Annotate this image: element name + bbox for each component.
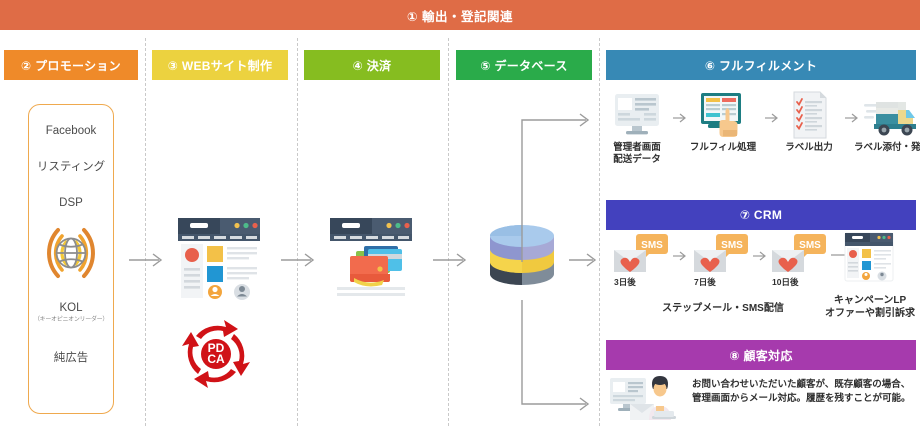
caption-text: 管理者画面 配送データ — [613, 142, 661, 165]
stage-label-promotion: ② プロモーション — [21, 57, 121, 74]
sms-badge-text: SMS — [721, 240, 743, 251]
arrow-database-to-fulfillment — [518, 112, 598, 262]
support-content: お問い合わせいただいた顧客が、既存顧客の場合、 管理画面からメール対応。履歴を残… — [606, 374, 916, 424]
promotion-channel-pure-ad: 純広告 — [29, 352, 113, 366]
crm-steps: SMS 3日後 SMS 7日後 — [606, 232, 916, 332]
stage-header-database: ⑤ データベース — [456, 50, 592, 80]
fulfillment-caption-4: ラベル添付・発送 — [846, 142, 920, 154]
fulfillment-arrow-2 — [764, 112, 782, 124]
promotion-channel-label: 純広告 — [54, 352, 89, 364]
banner-export-registration: ① 輸出・登記関連 — [0, 0, 920, 30]
arrow-database-to-support — [518, 300, 598, 412]
operator-desk-icon — [608, 374, 684, 424]
crm-arrow-2 — [752, 250, 770, 262]
fulfillment-caption-3: ラベル出力 — [778, 142, 840, 154]
stage-label-crm: ⑦ CRM — [740, 208, 782, 222]
promotion-channel-label: DSP — [59, 197, 83, 209]
stage-header-website: ③ WEBサイト制作 — [152, 50, 288, 80]
promotion-channel-label: Facebook — [46, 125, 97, 137]
browser-mockup-icon — [176, 216, 262, 304]
promotion-channel-facebook: Facebook — [29, 125, 113, 139]
promotion-channel-kol: KOL （キーオピニオンリーダー） — [29, 302, 113, 324]
caption-text: フルフィル処理 — [690, 142, 756, 153]
sms-envelope-icon: SMS — [694, 234, 750, 278]
sms-envelope-icon: SMS — [772, 234, 828, 278]
crm-delay-2: 7日後 — [694, 276, 716, 288]
column-divider-2 — [297, 38, 298, 426]
diagram-canvas: ① 輸出・登記関連 ② プロモーション ③ WEBサイト制作 ④ 決済 ⑤ デー… — [0, 0, 920, 426]
banner-title: ① 輸出・登記関連 — [407, 6, 513, 25]
tablet-hand-icon — [696, 92, 748, 140]
stage-label-database: ⑤ データベース — [480, 57, 567, 74]
column-divider-1 — [145, 38, 146, 426]
pdca-cycle-icon: PD CA — [178, 316, 254, 392]
column-divider-4 — [599, 38, 600, 426]
crm-delay-1: 3日後 — [614, 276, 636, 288]
promotion-channel-listing: リスティング — [29, 161, 113, 175]
monitor-admin-icon — [612, 92, 662, 138]
caption-text: ラベル添付・発送 — [854, 142, 920, 153]
crm-right-caption: キャンペーンLP オファーや割引訴求 — [824, 294, 916, 320]
caption-text: ラベル出力 — [785, 142, 833, 153]
stage-header-crm: ⑦ CRM — [606, 200, 916, 230]
crm-left-caption: ステップメール・SMS配信 — [630, 302, 816, 315]
stage-header-payment: ④ 決済 — [304, 50, 440, 80]
sms-envelope-icon: SMS — [614, 234, 670, 278]
crm-right-caption-line1: キャンペーンLP — [834, 295, 906, 306]
delivery-truck-icon — [864, 96, 918, 138]
stage-header-promotion: ② プロモーション — [4, 50, 138, 80]
stage-label-payment: ④ 決済 — [353, 57, 392, 74]
stage-label-support: ⑧ 顧客対応 — [729, 347, 792, 364]
svg-text:CA: CA — [207, 352, 225, 366]
globe-broadcast-icon — [28, 214, 114, 292]
browser-wallet-cards-icon — [328, 216, 414, 304]
arrow-payment-to-database — [432, 252, 472, 268]
fulfillment-arrow-3 — [844, 112, 862, 124]
fulfillment-steps: 管理者画面 配送データ — [606, 88, 916, 182]
arrow-website-to-payment — [280, 252, 320, 268]
support-text-line2: 管理画面からメール対応。履歴を残すことが可能。 — [692, 392, 920, 406]
sms-badge-text: SMS — [799, 240, 821, 251]
crm-arrow-1 — [672, 250, 690, 262]
crm-right-caption-line2: オファーや割引訴求 — [825, 308, 915, 319]
sms-badge-text: SMS — [641, 240, 663, 251]
arrow-database-to-crm — [568, 252, 602, 268]
landing-page-icon — [844, 232, 894, 282]
support-description: お問い合わせいただいた顧客が、既存顧客の場合、 管理画面からメール対応。履歴を残… — [692, 378, 920, 406]
promotion-channel-label: リスティング — [37, 161, 105, 173]
stage-header-fulfillment: ⑥ フルフィルメント — [606, 50, 916, 80]
fulfillment-caption-2: フルフィル処理 — [684, 142, 762, 154]
stage-label-fulfillment: ⑥ フルフィルメント — [705, 57, 817, 74]
promotion-channel-kol-sub: （キーオピニオンリーダー） — [29, 317, 113, 324]
support-text-line1: お問い合わせいただいた顧客が、既存顧客の場合、 — [692, 378, 920, 392]
fulfillment-caption-1: 管理者画面 配送データ — [606, 142, 668, 166]
column-divider-3 — [448, 38, 449, 426]
arrow-promotion-to-website — [128, 252, 168, 268]
fulfillment-arrow-1 — [672, 112, 690, 124]
checklist-icon — [788, 90, 830, 140]
promotion-channel-label: KOL — [59, 302, 82, 314]
promotion-channel-card: Facebook リスティング DSP — [28, 104, 114, 414]
stage-label-website: ③ WEBサイト制作 — [168, 57, 273, 74]
crm-delay-3: 10日後 — [772, 276, 798, 288]
stage-header-support: ⑧ 顧客対応 — [606, 340, 916, 370]
promotion-channel-dsp: DSP — [29, 197, 113, 211]
